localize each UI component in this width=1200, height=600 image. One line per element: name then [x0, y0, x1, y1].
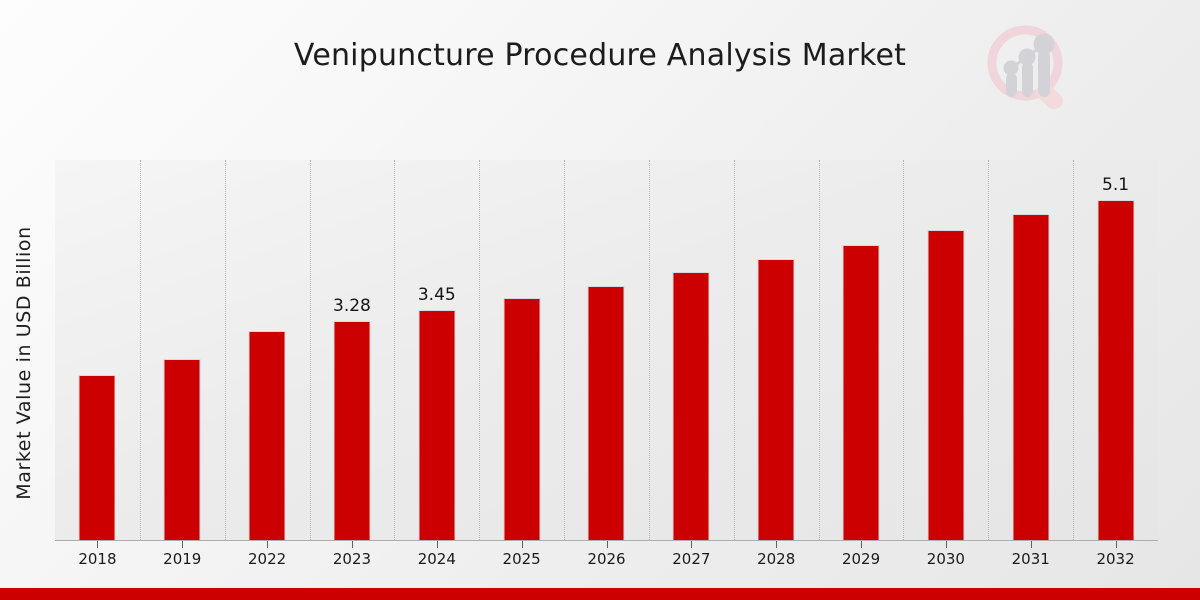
bar[interactable] [503, 298, 540, 540]
x-tick-mark [182, 541, 183, 548]
x-tick-label: 2029 [816, 550, 906, 568]
bar[interactable] [927, 230, 964, 540]
x-tick-label: 2028 [731, 550, 821, 568]
bar[interactable] [1097, 200, 1134, 540]
bar[interactable] [418, 310, 455, 540]
bar[interactable] [164, 359, 201, 540]
bar[interactable] [843, 245, 880, 540]
footer-accent-bar [0, 588, 1200, 600]
bar[interactable] [673, 272, 710, 540]
magnifier-bar-chart-logo [978, 18, 1082, 118]
x-tick-mark [1116, 541, 1117, 548]
chart-canvas: Venipuncture Procedure Analysis Market M… [0, 0, 1200, 600]
bar-group[interactable] [55, 160, 140, 540]
bar[interactable] [79, 375, 116, 540]
x-tick-label: 2022 [222, 550, 312, 568]
bar[interactable] [758, 259, 795, 540]
x-tick-mark [97, 541, 98, 548]
x-tick-label: 2019 [137, 550, 227, 568]
x-tick-mark [607, 541, 608, 548]
x-tick-mark [522, 541, 523, 548]
x-tick-label: 2027 [646, 550, 736, 568]
x-tick-label: 2023 [307, 550, 397, 568]
bar-group[interactable] [564, 160, 649, 540]
bar[interactable] [333, 321, 370, 540]
x-tick-mark [1031, 541, 1032, 548]
bar-group[interactable] [225, 160, 310, 540]
bar-value-label: 3.45 [418, 285, 456, 305]
bar[interactable] [249, 331, 286, 540]
y-axis-label: Market Value in USD Billion [13, 153, 35, 573]
x-tick-label: 2018 [52, 550, 142, 568]
x-tick-label: 2026 [562, 550, 652, 568]
x-tick-mark [267, 541, 268, 548]
bar-group[interactable]: 3.28 [310, 160, 395, 540]
bar-chart-glyph-icon [1004, 34, 1055, 98]
bar-group[interactable] [649, 160, 734, 540]
x-tick-label: 2032 [1071, 550, 1161, 568]
x-tick-mark [352, 541, 353, 548]
bar-group[interactable] [479, 160, 564, 540]
plot-area: 3.283.455.1 [55, 160, 1158, 541]
bar-group[interactable] [734, 160, 819, 540]
bar[interactable] [1012, 214, 1049, 540]
bar-group[interactable] [988, 160, 1073, 540]
x-tick-label: 2030 [901, 550, 991, 568]
bar-value-label: 3.28 [333, 296, 371, 316]
bar-group[interactable] [140, 160, 225, 540]
bar-group[interactable] [819, 160, 904, 540]
x-tick-label: 2025 [477, 550, 567, 568]
bar-group[interactable]: 5.1 [1073, 160, 1158, 540]
x-tick-label: 2031 [986, 550, 1076, 568]
x-tick-mark [776, 541, 777, 548]
bar-value-label: 5.1 [1102, 175, 1129, 195]
x-tick-mark [437, 541, 438, 548]
x-tick-mark [946, 541, 947, 548]
x-tick-label: 2024 [392, 550, 482, 568]
x-tick-mark [691, 541, 692, 548]
bar[interactable] [588, 286, 625, 540]
x-tick-mark [861, 541, 862, 548]
bar-group[interactable]: 3.45 [394, 160, 479, 540]
bar-group[interactable] [903, 160, 988, 540]
